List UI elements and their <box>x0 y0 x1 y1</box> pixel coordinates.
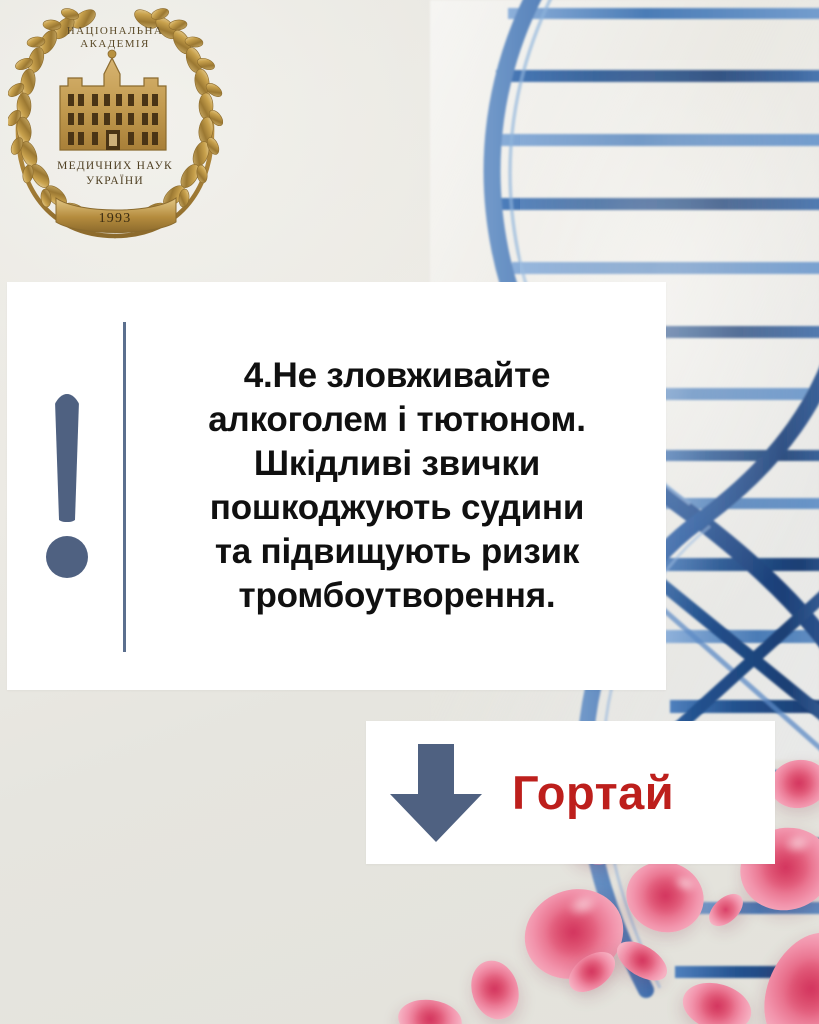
swipe-label: Гортай <box>506 765 775 820</box>
tip-line: тромбоутворення. <box>144 574 650 618</box>
exclamation-dot <box>46 536 88 578</box>
logo-line-3: МЕДИЧНИХ НАУК <box>57 160 173 172</box>
logo-line-1: НАЦІОНАЛЬНА <box>67 25 163 37</box>
tip-text: 4.Не зловживайте алкоголем і тютюном. Шк… <box>126 354 666 619</box>
logo-line-4: УКРАЇНИ <box>86 173 144 187</box>
tip-line: 4.Не зловживайте <box>144 354 650 398</box>
swipe-card[interactable]: Гортай <box>366 721 775 864</box>
tip-line: пошкоджують судини <box>144 486 650 530</box>
tip-card: 4.Не зловживайте алкоголем і тютюном. Шк… <box>7 282 666 690</box>
arrow-down-icon[interactable] <box>366 738 506 848</box>
tip-line: Шкідливі звички <box>144 442 650 486</box>
poster-canvas: НАЦІОНАЛЬНА АКАДЕМІЯ МЕДИЧНИХ НАУК УКРАЇ… <box>0 0 819 1024</box>
academy-building-icon <box>60 50 166 150</box>
logo-year: 1993 <box>99 211 132 226</box>
exclamation-mark-icon <box>7 394 123 578</box>
academy-logo: НАЦІОНАЛЬНА АКАДЕМІЯ МЕДИЧНИХ НАУК УКРАЇ… <box>8 8 223 248</box>
exclamation-stem <box>49 394 85 522</box>
logo-line-2: АКАДЕМІЯ <box>80 38 149 50</box>
tip-line: алкоголем і тютюном. <box>144 398 650 442</box>
tip-line: та підвищують ризик <box>144 530 650 574</box>
